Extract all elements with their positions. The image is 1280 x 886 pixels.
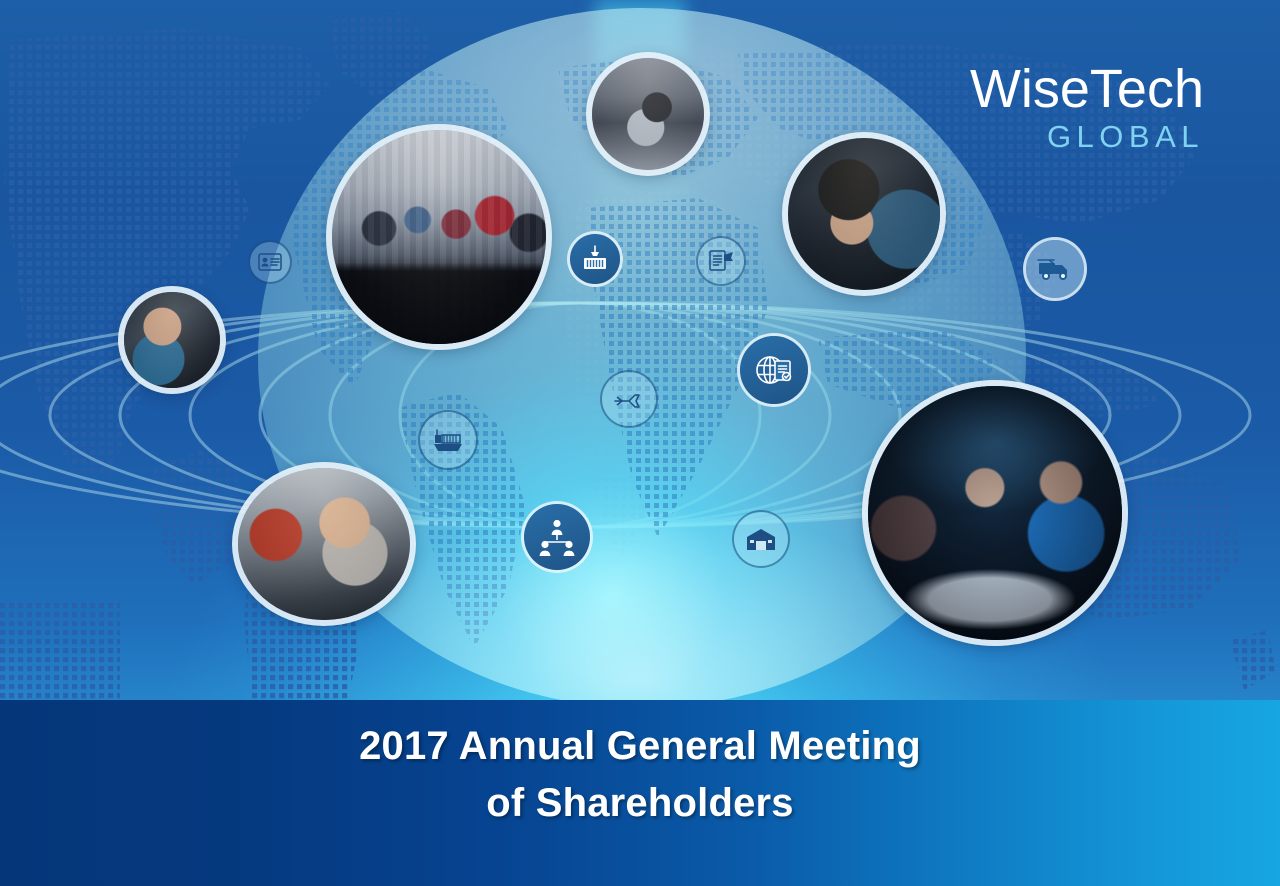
banner-title-line-2: of Shareholders — [486, 775, 794, 832]
photo-bubble-engineer-desk — [124, 292, 220, 388]
banner-title-line-1: 2017 Annual General Meeting — [359, 718, 921, 775]
wisetech-global-logo: WiseTech GLOBAL — [970, 62, 1204, 157]
documents-icon — [698, 238, 744, 284]
photo-bubble-team-group — [332, 130, 546, 344]
ship-icon — [420, 412, 476, 468]
airplane-icon — [602, 372, 656, 426]
title-banner: 2017 Annual General Meeting of Sharehold… — [0, 700, 1280, 886]
org-people-icon — [524, 504, 590, 570]
photo-bubble-warehouse-worker — [592, 58, 704, 170]
photo-bubble-woman-laptop — [238, 468, 410, 620]
title-slide: WiseTech GLOBAL 2017 Annual General Meet… — [0, 0, 1280, 886]
globe-doc-icon — [740, 336, 808, 404]
container-icon — [570, 234, 620, 284]
warehouse-icon — [734, 512, 788, 566]
truck-icon — [1026, 240, 1084, 298]
photo-bubble-devs-laptop — [868, 386, 1122, 640]
logo-subword: GLOBAL — [970, 118, 1204, 157]
id-card-icon — [250, 242, 290, 282]
logo-wordmark: WiseTech — [970, 62, 1204, 116]
photo-bubble-developer-thinking — [788, 138, 940, 290]
